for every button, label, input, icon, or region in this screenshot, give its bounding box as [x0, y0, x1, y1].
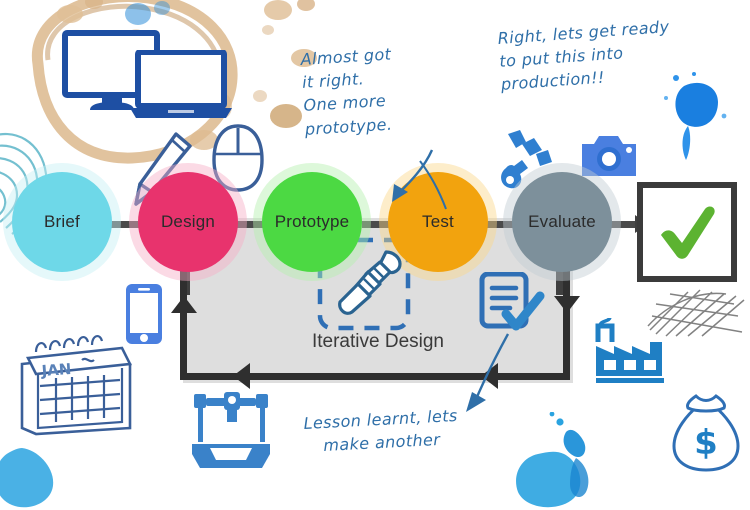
annotation-arrow-production [414, 155, 458, 213]
diagram-canvas: JAN [0, 0, 750, 500]
approval-box[interactable] [637, 182, 737, 282]
stage-design[interactable]: Design [138, 172, 238, 272]
blue-dot-decoration [122, 0, 182, 36]
annotation-lesson: Lesson learnt, lets make another [303, 404, 459, 458]
stage-design-label: Design [161, 212, 215, 232]
annotation-arrow-lesson [452, 330, 516, 414]
watercolor-splash-left [0, 430, 82, 510]
laptop-icon [128, 50, 236, 122]
money-bag-icon: $ [668, 392, 744, 476]
annotation-production: Right, lets get ready to put this into p… [497, 15, 673, 96]
annotation-prototype: Almost got it right. One more prototype. [300, 42, 396, 140]
pencil-scribble [646, 286, 748, 338]
watercolor-splash [508, 412, 638, 508]
svg-text:JAN: JAN [40, 360, 72, 380]
svg-text:$: $ [694, 423, 718, 463]
loop-arrow-up [171, 296, 197, 313]
stage-prototype-label: Prototype [275, 212, 350, 232]
stage-test-label: Test [422, 212, 454, 232]
stage-brief[interactable]: Brief [12, 172, 112, 272]
stage-evaluate[interactable]: Evaluate [512, 172, 612, 272]
calendar-jan-icon: JAN [16, 334, 138, 438]
3d-printer-icon [184, 386, 278, 474]
loop-arrow-down [554, 296, 580, 313]
stage-brief-label: Brief [44, 212, 80, 232]
check-mark-icon [655, 203, 719, 261]
stage-evaluate-label: Evaluate [528, 212, 596, 232]
document-check-icon [478, 272, 548, 338]
spark-plug-sketch [330, 246, 406, 318]
